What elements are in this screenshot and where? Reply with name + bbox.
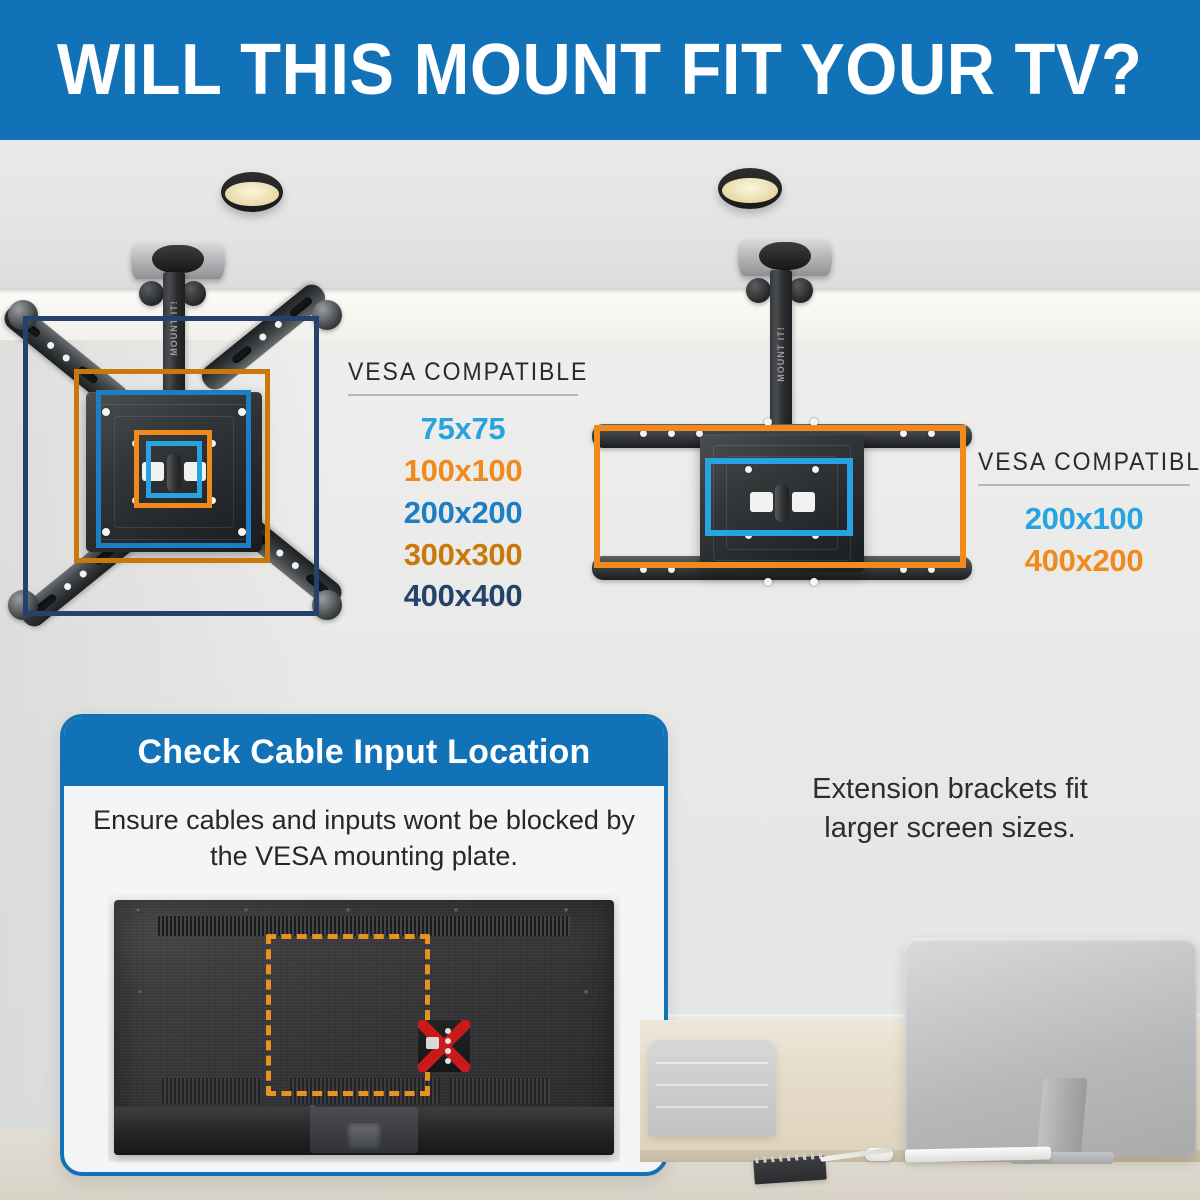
tv-screw [244, 908, 249, 913]
light-lens [225, 182, 278, 207]
tv-vent-right [450, 1078, 550, 1104]
tv-screw [564, 908, 569, 913]
pivot-knuckle-right-a [746, 278, 771, 303]
vesa-heading-right: VESA COMPATIBLE [978, 448, 1173, 477]
vesa-callout-right: VESA COMPATIBLE 200x100 400x200 [978, 448, 1190, 582]
notepad [753, 1156, 826, 1185]
tv-screw [584, 990, 589, 995]
vesa-area-outline [266, 934, 430, 1096]
tv-vent-left [162, 1078, 260, 1104]
port-dots-icon [445, 1028, 451, 1068]
vesa-divider-left [348, 394, 578, 396]
vesa-size-200x200: 200x200 [348, 492, 578, 534]
card-header: Check Cable Input Location [64, 718, 664, 786]
tv-bottom-bezel [114, 1107, 614, 1155]
vesa-heading-left: VESA COMPATIBLE [348, 358, 560, 387]
vesa-size-400x400: 400x400 [348, 575, 578, 617]
tv-stand-neck [347, 1123, 381, 1151]
blocked-port-marker [418, 1020, 470, 1072]
rail-hole [764, 578, 772, 586]
vesa-box-75x75 [146, 441, 202, 498]
vesa-box-200x100 [705, 458, 853, 536]
brand-label-right: MOUNT IT! [776, 326, 786, 382]
tv-screw [346, 908, 351, 913]
vesa-divider-right [978, 484, 1190, 486]
tv-screw [138, 990, 143, 995]
ceiling-light-left [221, 172, 283, 212]
pivot-knuckle-left-a [139, 281, 164, 306]
tv-screw [136, 908, 141, 913]
light-rim [718, 168, 782, 209]
office-chair [648, 1040, 776, 1136]
extension-note-line1: Extension brackets fit [750, 770, 1150, 809]
card-heading: Check Cable Input Location [138, 733, 591, 772]
vesa-size-200x100: 200x100 [978, 498, 1190, 540]
port-jack-icon [426, 1037, 439, 1049]
vesa-size-400x200: 400x200 [978, 540, 1190, 582]
light-rim [221, 172, 283, 212]
vesa-size-list-left: 75x75 100x100 200x200 300x300 400x400 [348, 408, 578, 617]
check-cable-card: Check Cable Input Location Ensure cables… [60, 714, 668, 1176]
arm-slot [288, 296, 313, 319]
tv-top-vent [158, 916, 570, 936]
header-banner: WILL THIS MOUNT FIT YOUR TV? [0, 0, 1200, 140]
card-body-text: Ensure cables and inputs wont be blocked… [64, 786, 664, 874]
extension-note: Extension brackets fit larger screen siz… [750, 770, 1150, 848]
extension-note-line2: larger screen sizes. [750, 809, 1150, 848]
light-lens [722, 178, 777, 203]
tv-screw [454, 908, 459, 913]
tv-back-photo [108, 894, 620, 1162]
vesa-size-list-right: 200x100 400x200 [978, 498, 1190, 582]
rail-hole [810, 578, 818, 586]
vesa-size-100x100: 100x100 [348, 450, 578, 492]
vesa-callout-left: VESA COMPATIBLE 75x75 100x100 200x200 30… [348, 358, 578, 617]
vesa-size-75x75: 75x75 [348, 408, 578, 450]
ceiling-light-right [718, 168, 782, 209]
vesa-size-300x300: 300x300 [348, 534, 578, 576]
page-title: WILL THIS MOUNT FIT YOUR TV? [57, 34, 1143, 106]
infographic-stage: WILL THIS MOUNT FIT YOUR TV? MOUNT IT! [0, 0, 1200, 1200]
